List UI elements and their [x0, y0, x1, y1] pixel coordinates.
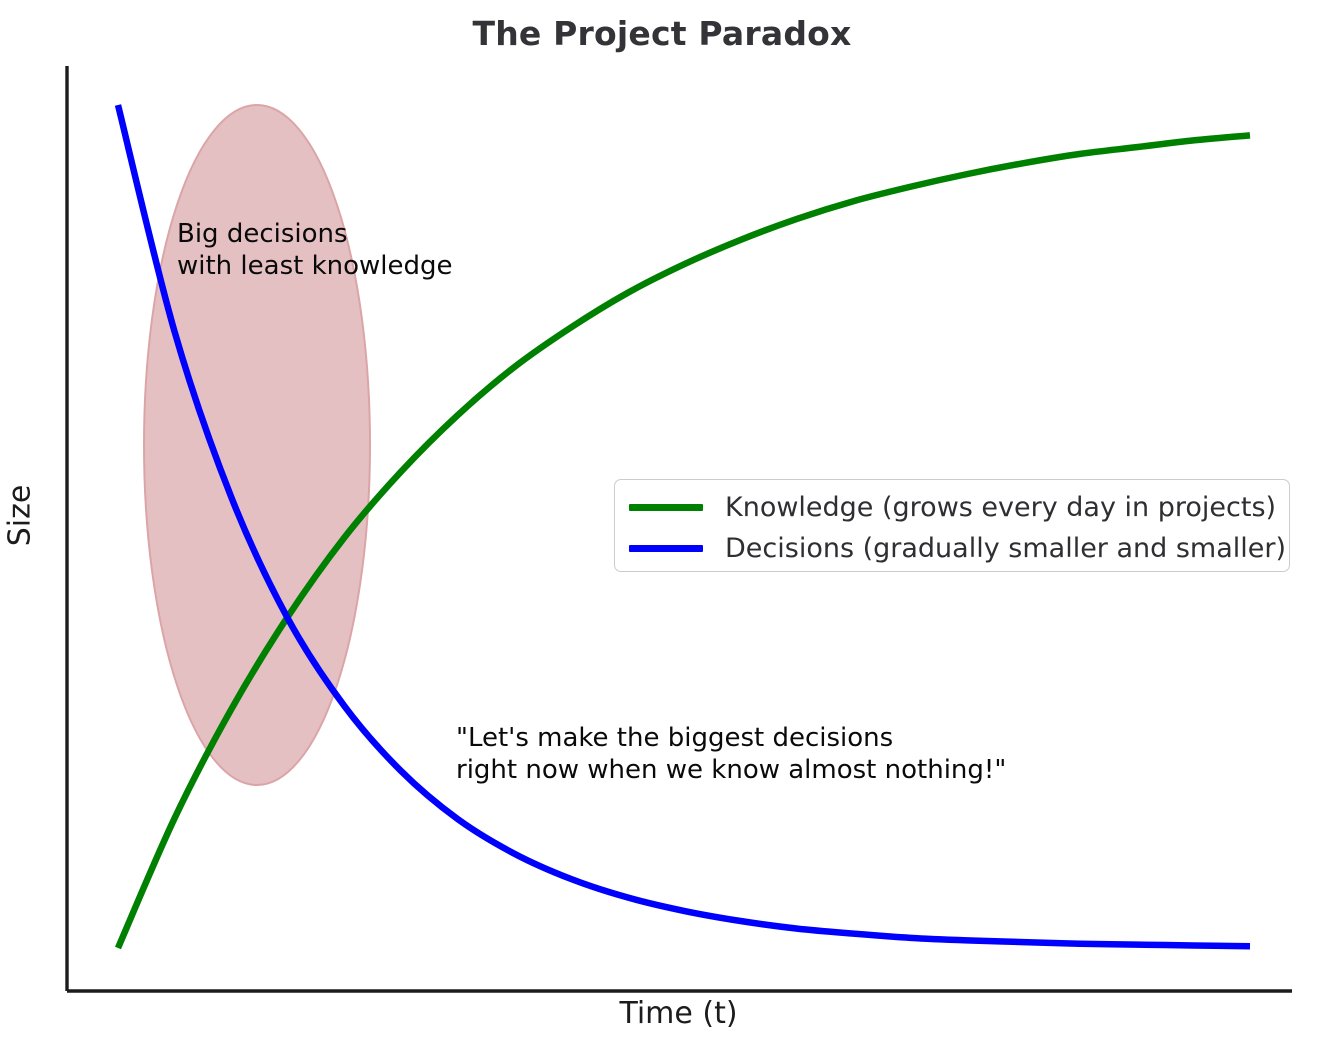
legend: Knowledge (grows every day in projects) …: [614, 479, 1290, 572]
legend-label-decisions: Decisions (gradually smaller and smaller…: [725, 533, 1286, 564]
highlight-ellipse: [144, 105, 370, 785]
legend-line-swatch-decisions: [629, 545, 703, 552]
y-axis-label-wrap: Size: [0, 0, 60, 1054]
legend-line-swatch-knowledge: [629, 504, 703, 511]
legend-item-decisions[interactable]: Decisions (gradually smaller and smaller…: [629, 528, 1286, 568]
legend-label-knowledge: Knowledge (grows every day in projects): [725, 492, 1276, 523]
chart-figure: The Project Paradox Time (t) Size Big de…: [0, 0, 1324, 1054]
annotation-quote: "Let's make the biggest decisions right …: [456, 723, 1006, 786]
legend-item-knowledge[interactable]: Knowledge (grows every day in projects): [629, 487, 1276, 527]
y-axis-label: Size: [3, 436, 38, 596]
annotation-big-decisions: Big decisions with least knowledge: [177, 219, 453, 282]
x-axis-label: Time (t): [67, 996, 1290, 1031]
